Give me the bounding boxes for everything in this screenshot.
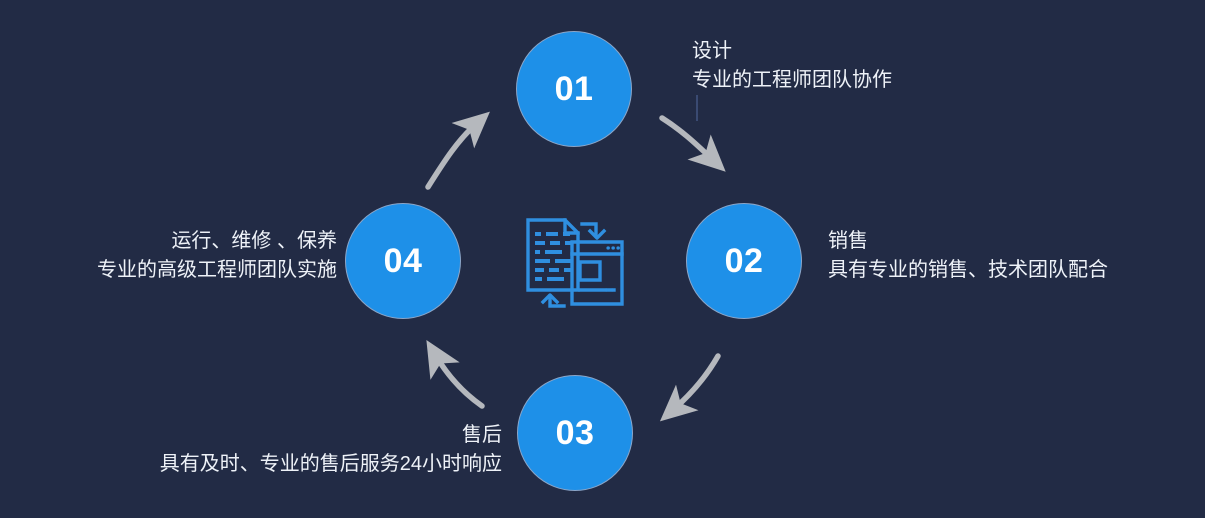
step-number-01: 01 [555,72,594,106]
caption-step-02: 销售 具有专业的销售、技术团队配合 [828,227,1108,285]
step-circle-03[interactable]: 03 [517,375,633,491]
caption-title-02: 销售 [828,227,1108,256]
step-circle-04[interactable]: 04 [345,203,461,319]
caption-step-03: 售后 具有及时、专业的售后服务24小时响应 [160,421,502,479]
caption-title-03: 售后 [160,421,502,450]
text-caret-artifact [696,95,698,121]
step-number-04: 04 [384,244,423,278]
arrow-02-to-03 [674,356,718,409]
caption-desc-02: 具有专业的销售、技术团队配合 [828,256,1108,285]
process-cycle-diagram: 01 02 03 04 [0,0,1205,518]
step-number-02: 02 [725,244,764,278]
step-circle-02[interactable]: 02 [686,203,802,319]
caption-desc-01: 专业的工程师团队协作 [692,66,892,95]
caption-step-01: 设计 专业的工程师团队协作 [692,37,892,95]
caption-title-04: 运行、维修 、保养 [97,227,337,256]
step-circle-01[interactable]: 01 [516,31,632,147]
caption-title-01: 设计 [692,37,892,66]
caption-desc-04: 专业的高级工程师团队实施 [97,256,337,285]
caption-step-04: 运行、维修 、保养 专业的高级工程师团队实施 [97,227,337,285]
step-number-03: 03 [556,416,595,450]
arrow-03-to-04 [436,356,482,406]
document-to-webpage-icon [520,212,630,312]
arrow-04-to-01 [428,124,476,187]
caption-desc-03: 具有及时、专业的售后服务24小时响应 [160,450,502,479]
arrow-01-to-02 [662,118,712,159]
